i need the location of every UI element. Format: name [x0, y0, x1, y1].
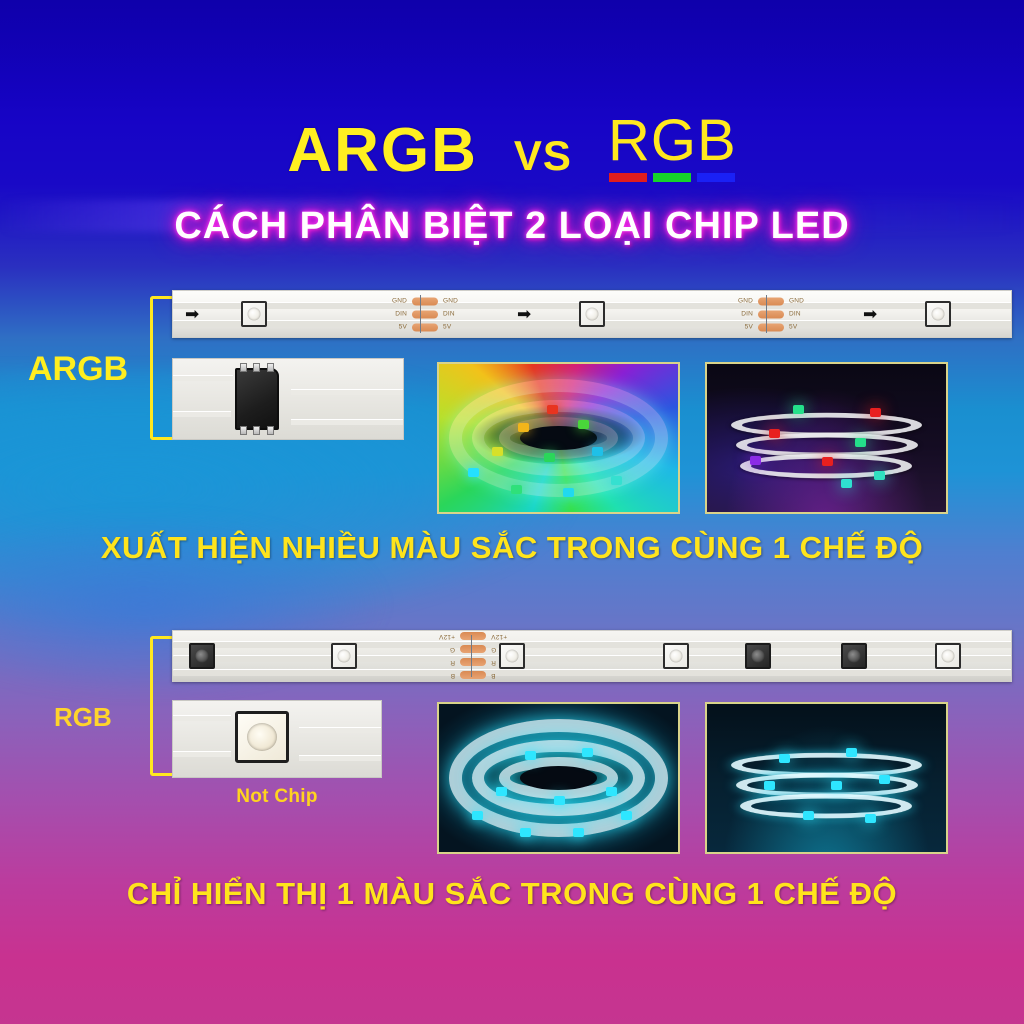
- pcb-trace: [173, 411, 231, 417]
- pad-label-5v-left: 5V: [727, 324, 753, 331]
- rgb-bar-blue: [697, 173, 735, 182]
- rgb-strip-photo-cyan: [437, 702, 680, 854]
- led-smd-package: [579, 301, 605, 327]
- pad-label-b-right: B: [429, 672, 455, 679]
- argb-led-strip: ➡ ➡ ➡ GND GND DIN DIN 5V 5V: [172, 290, 1012, 338]
- rgb-caption: CHỈ HIỂN THỊ 1 MÀU SẮC TRONG CÙNG 1 CHẾ …: [0, 876, 1024, 912]
- copper-pad: [758, 297, 784, 305]
- led-smd-package: [925, 301, 951, 327]
- pcb-trace: [173, 715, 231, 721]
- section-bracket-rgb: [150, 636, 172, 776]
- led-smd-package: [189, 643, 215, 669]
- rgb-led-closeup: [172, 700, 382, 778]
- pad-label-din-left: DIN: [381, 311, 407, 318]
- pcb-trace: [173, 751, 231, 757]
- led-coil-cyan-dark: [707, 704, 946, 852]
- solder-pad-group: GND GND DIN DIN 5V 5V: [727, 296, 815, 333]
- not-chip-label: Not Chip: [172, 786, 382, 808]
- pad-label-gnd-left: GND: [727, 298, 753, 305]
- rgb-bar-red: [609, 173, 647, 182]
- rgb-led-strip: B B R R G G +12V +12V: [172, 630, 1012, 682]
- copper-pad: [460, 659, 486, 667]
- subtitle: CÁCH PHÂN BIỆT 2 LOẠI CHIP LED: [0, 206, 1024, 248]
- argb-chip-closeup: [172, 358, 404, 440]
- led-dots: [707, 364, 946, 512]
- pad-label-12v-left: +12V: [491, 633, 517, 640]
- infographic-poster: ARGB VS RGB CÁCH PHÂN BIỆT 2 LOẠI CHIP L…: [0, 0, 1024, 1024]
- led-dots: [439, 364, 678, 512]
- pad-label-din-right: DIN: [789, 311, 815, 318]
- pad-label-g-left: G: [491, 646, 517, 653]
- led-smd-package: [241, 301, 267, 327]
- headline-argb: ARGB: [287, 120, 478, 182]
- section-label-argb: ARGB: [28, 352, 128, 386]
- headline: ARGB VS RGB: [0, 112, 1024, 182]
- pcb-trace: [173, 375, 233, 381]
- pad-label-r-right: R: [429, 659, 455, 666]
- ic-pins-top: [237, 363, 277, 372]
- pcb-trace: [299, 755, 382, 761]
- section-label-rgb: RGB: [54, 704, 112, 730]
- headline-rgb-group: RGB: [608, 112, 737, 182]
- copper-pad: [460, 646, 486, 654]
- copper-pad: [758, 323, 784, 331]
- led-smd-package: [745, 643, 771, 669]
- led-smd-package: [935, 643, 961, 669]
- cut-line: [420, 295, 421, 333]
- pcb-trace: [173, 641, 1012, 648]
- pad-label-gnd-left: GND: [381, 298, 407, 305]
- copper-pad: [460, 672, 486, 680]
- pad-label-g-right: G: [429, 646, 455, 653]
- pad-label-5v-right: 5V: [789, 324, 815, 331]
- flow-arrow-icon: ➡: [517, 306, 531, 323]
- headline-rgb: RGB: [608, 112, 737, 170]
- rgb-bar-green: [653, 173, 691, 182]
- led-coil-cyan: [439, 704, 678, 852]
- pcb-trace: [173, 669, 1012, 676]
- pad-label-gnd-right: GND: [789, 298, 815, 305]
- copper-pad: [412, 297, 438, 305]
- copper-pad: [460, 633, 486, 641]
- flow-arrow-icon: ➡: [863, 306, 877, 323]
- flow-arrow-icon: ➡: [185, 306, 199, 323]
- rgb-strip-photo-cyan-dark: [705, 702, 948, 854]
- ic-pins-bottom: [237, 426, 277, 435]
- pad-label-12v-right: +12V: [429, 633, 455, 640]
- pcb-trace: [173, 655, 1012, 662]
- pad-label-din-right: DIN: [443, 311, 469, 318]
- pcb-trace: [299, 727, 382, 733]
- rgb-color-bars: [609, 173, 735, 182]
- copper-pad: [412, 310, 438, 318]
- pad-label-r-left: R: [491, 659, 517, 666]
- background-top-glow: [0, 0, 1024, 123]
- led-smd-package: [841, 643, 867, 669]
- led-dots: [707, 704, 946, 852]
- argb-strip-photo-multicolor: [705, 362, 948, 514]
- led-smd-package: [331, 643, 357, 669]
- pad-label-gnd-right: GND: [443, 298, 469, 305]
- argb-ic-chip-icon: [235, 368, 279, 430]
- pad-label-din-left: DIN: [727, 311, 753, 318]
- solder-pad-group: B B R R G G +12V +12V: [429, 631, 517, 681]
- led-coil-multicolor: [707, 364, 946, 512]
- copper-pad: [758, 310, 784, 318]
- led-smd-package: [663, 643, 689, 669]
- pcb-trace: [291, 419, 404, 425]
- led-coil-rainbow: [439, 364, 678, 512]
- argb-caption: XUẤT HIỆN NHIỀU MÀU SẮC TRONG CÙNG 1 CHẾ…: [0, 530, 1024, 566]
- argb-strip-photo-rainbow: [437, 362, 680, 514]
- led-dots: [439, 704, 678, 852]
- pad-label-5v-right: 5V: [443, 324, 469, 331]
- pad-label-b-left: B: [491, 672, 517, 679]
- headline-vs: VS: [514, 135, 572, 177]
- section-bracket-argb: [150, 296, 172, 440]
- rgb-led-package-icon: [235, 711, 289, 763]
- pcb-trace: [291, 389, 404, 395]
- copper-pad: [412, 323, 438, 331]
- pad-label-5v-left: 5V: [381, 324, 407, 331]
- cut-line: [766, 295, 767, 333]
- cut-line: [471, 635, 472, 677]
- solder-pad-group: GND GND DIN DIN 5V 5V: [381, 296, 469, 333]
